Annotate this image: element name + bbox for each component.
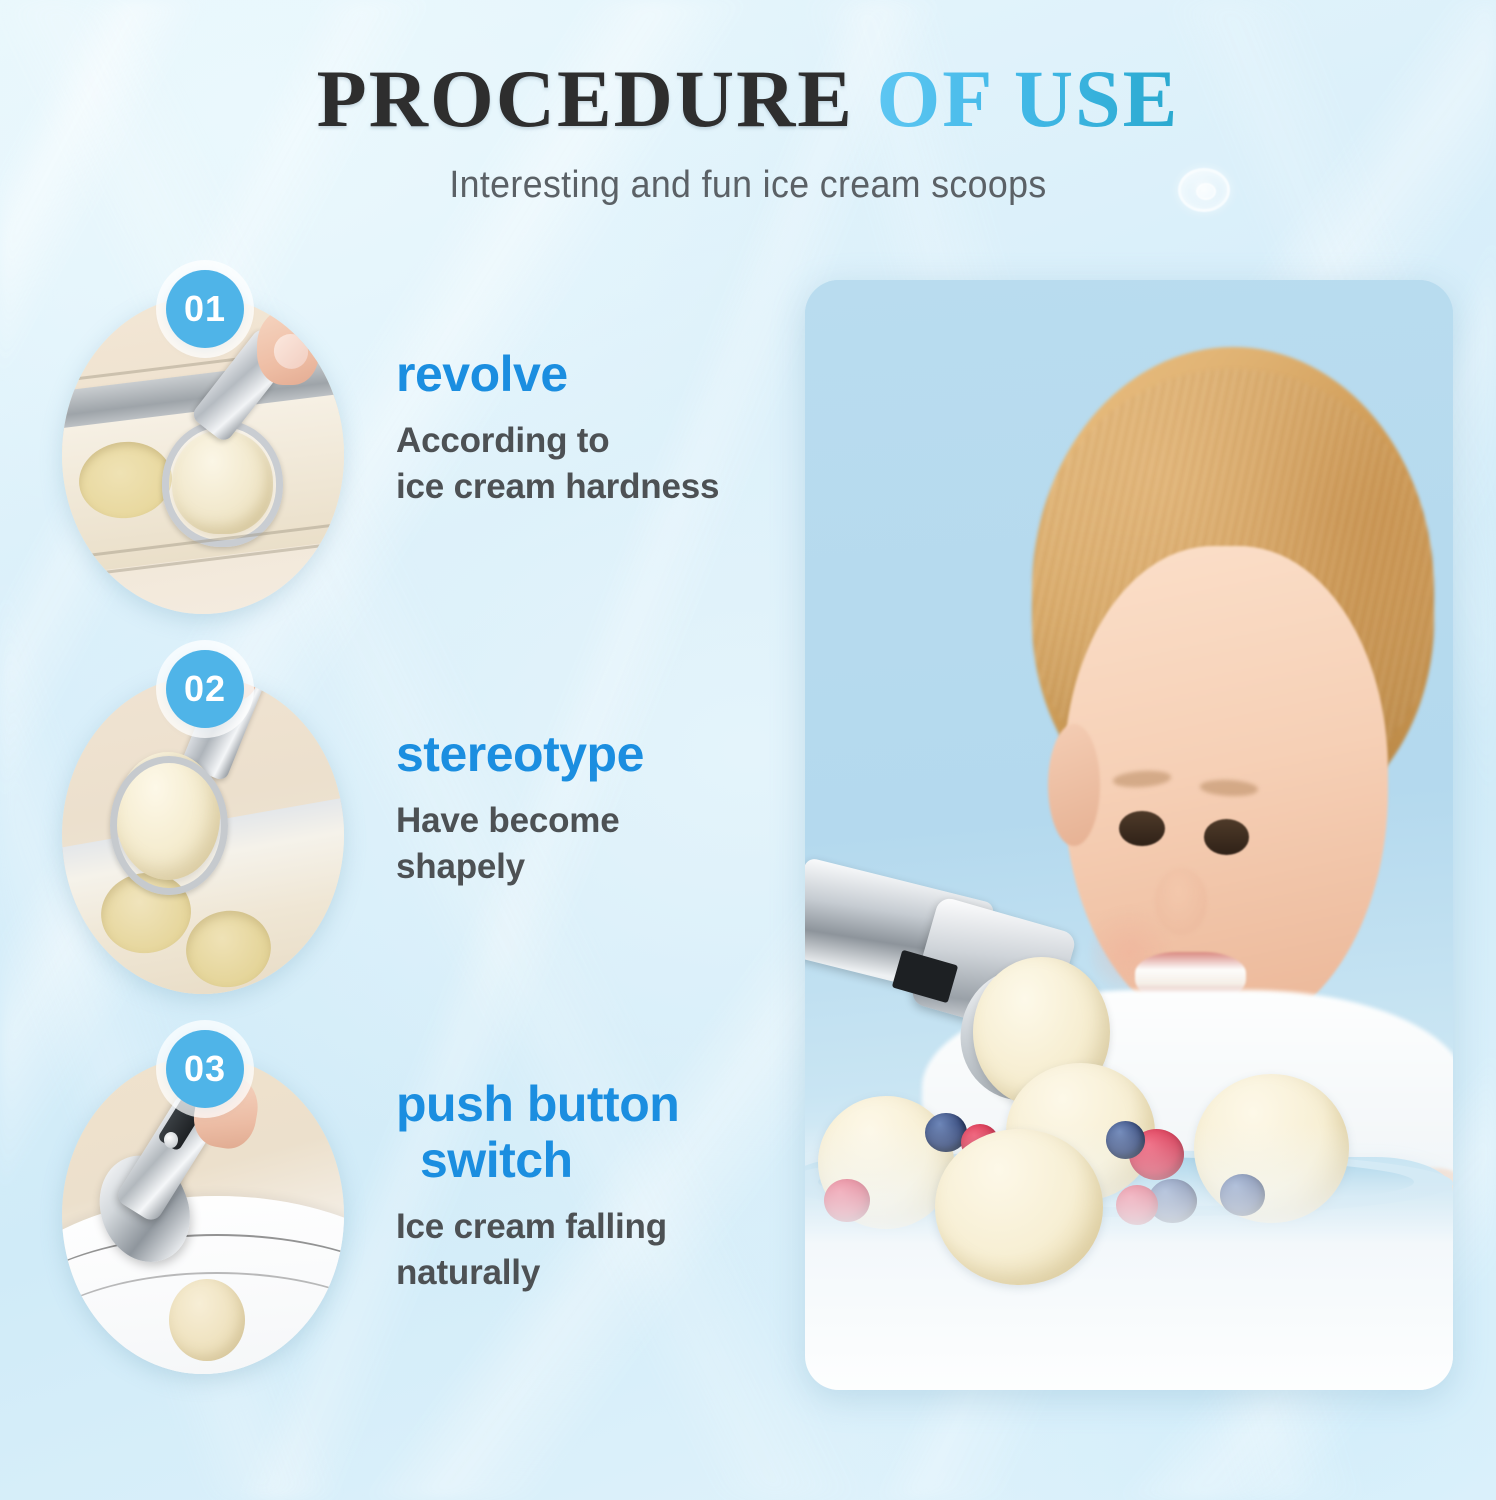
step-2-number: 02 [184, 671, 226, 707]
hero-product-photo [805, 280, 1453, 1390]
step-3-heading-line-2: switch [420, 1132, 786, 1188]
page-title-accent: OF USE [877, 53, 1180, 144]
step-2-heading: stereotype [396, 726, 786, 782]
page-title-primary: PROCEDURE [317, 53, 854, 144]
step-2-body-line-1: Have become [396, 798, 786, 844]
step-item-2: 02 stereotype Have become shapely [0, 648, 790, 1028]
step-3-number-badge: 03 [166, 1030, 244, 1108]
step-item-3: 03 push button switch Ice cream falling … [0, 1028, 790, 1408]
step-1-body: According to ice cream hardness [396, 418, 786, 509]
step-1-body-line-1: According to [396, 418, 786, 464]
steps-list: 01 revolve According to ice cream hardne… [0, 268, 790, 1408]
page-title: PROCEDURE OF USE [0, 58, 1496, 140]
step-1-body-line-2: ice cream hardness [396, 464, 786, 510]
step-3-heading-line-1: push button [396, 1076, 679, 1132]
step-3-text: push button switch Ice cream falling nat… [396, 1076, 786, 1295]
step-3-body-line-2: naturally [396, 1250, 786, 1296]
step-2-body: Have become shapely [396, 798, 786, 889]
step-1-heading: revolve [396, 346, 786, 402]
step-3-body-line-1: Ice cream falling [396, 1204, 786, 1250]
step-3-heading: push button switch [396, 1076, 786, 1188]
step-item-1: 01 revolve According to ice cream hardne… [0, 268, 790, 648]
step-2-number-badge: 02 [166, 650, 244, 728]
step-3-body: Ice cream falling naturally [396, 1204, 786, 1295]
step-1-number-badge: 01 [166, 270, 244, 348]
step-2-body-line-2: shapely [396, 844, 786, 890]
step-1-text: revolve According to ice cream hardness [396, 346, 786, 509]
page-subtitle: Interesting and fun ice cream scoops [45, 164, 1451, 207]
page-header: PROCEDURE OF USE Interesting and fun ice… [0, 58, 1496, 207]
step-3-number: 03 [184, 1051, 226, 1087]
step-2-text: stereotype Have become shapely [396, 726, 786, 889]
step-1-number: 01 [184, 291, 226, 327]
